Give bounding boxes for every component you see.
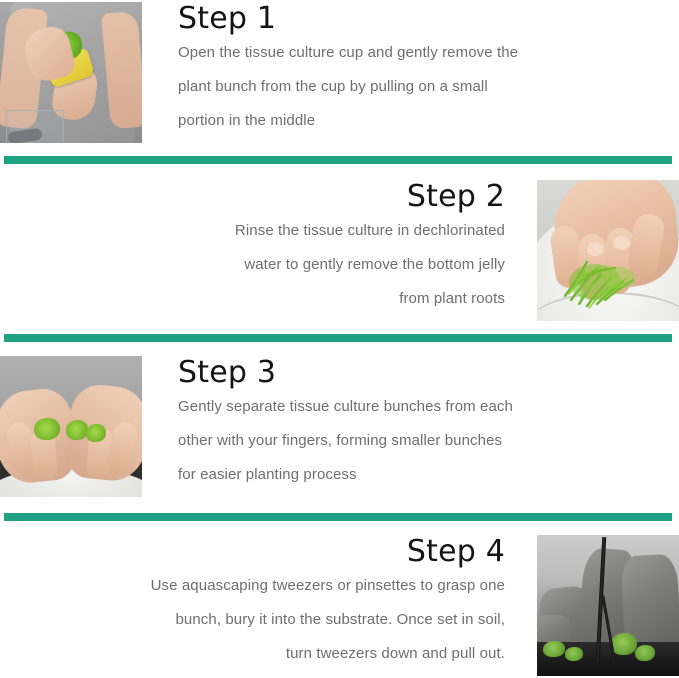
step-2-line-2: water to gently remove the bottom jelly <box>0 248 505 282</box>
instruction-infographic: Step 1 Open the tissue culture cup and g… <box>0 0 679 678</box>
step-4-line-1: Use aquascaping tweezers or pinsettes to… <box>0 569 505 603</box>
step-row-2: Step 2 Rinse the tissue culture in dechl… <box>0 180 679 321</box>
step-3-body: Gently separate tissue culture bunches f… <box>178 390 679 492</box>
step-2-line-1: Rinse the tissue culture in dechlorinate… <box>0 214 505 248</box>
step-1-title: Step 1 <box>178 2 679 36</box>
step-2-plant-illustration <box>557 236 645 310</box>
step-1-body: Open the tissue culture cup and gently r… <box>178 36 679 138</box>
divider-2 <box>4 334 672 342</box>
step-3-photo <box>0 356 142 497</box>
step-2-text: Step 2 Rinse the tissue culture in dechl… <box>0 180 537 316</box>
step-row-3: Step 3 Gently separate tissue culture bu… <box>0 356 679 497</box>
step-4-text: Step 4 Use aquascaping tweezers or pinse… <box>0 535 537 671</box>
step-1-line-3: portion in the middle <box>178 104 679 138</box>
step-1-line-1: Open the tissue culture cup and gently r… <box>178 36 679 70</box>
step-4-body: Use aquascaping tweezers or pinsettes to… <box>0 569 505 671</box>
step-2-line-3: from plant roots <box>0 282 505 316</box>
step-1-text: Step 1 Open the tissue culture cup and g… <box>142 2 679 138</box>
step-3-text: Step 3 Gently separate tissue culture bu… <box>142 356 679 492</box>
step-4-title: Step 4 <box>0 535 505 569</box>
step-3-line-3: for easier planting process <box>178 458 679 492</box>
step-2-photo <box>537 180 679 321</box>
step-4-line-2: bunch, bury it into the substrate. Once … <box>0 603 505 637</box>
step-row-1: Step 1 Open the tissue culture cup and g… <box>0 2 679 143</box>
divider-1 <box>4 156 672 164</box>
step-1-line-2: plant bunch from the cup by pulling on a… <box>178 70 679 104</box>
step-1-photo <box>0 2 142 143</box>
step-3-title: Step 3 <box>178 356 679 390</box>
step-3-line-1: Gently separate tissue culture bunches f… <box>178 390 679 424</box>
step-3-line-2: other with your fingers, forming smaller… <box>178 424 679 458</box>
step-row-4: Step 4 Use aquascaping tweezers or pinse… <box>0 535 679 676</box>
divider-3 <box>4 513 672 521</box>
step-4-photo <box>537 535 679 676</box>
step-4-line-3: turn tweezers down and pull out. <box>0 637 505 671</box>
step-2-title: Step 2 <box>0 180 505 214</box>
step-2-body: Rinse the tissue culture in dechlorinate… <box>0 214 505 316</box>
